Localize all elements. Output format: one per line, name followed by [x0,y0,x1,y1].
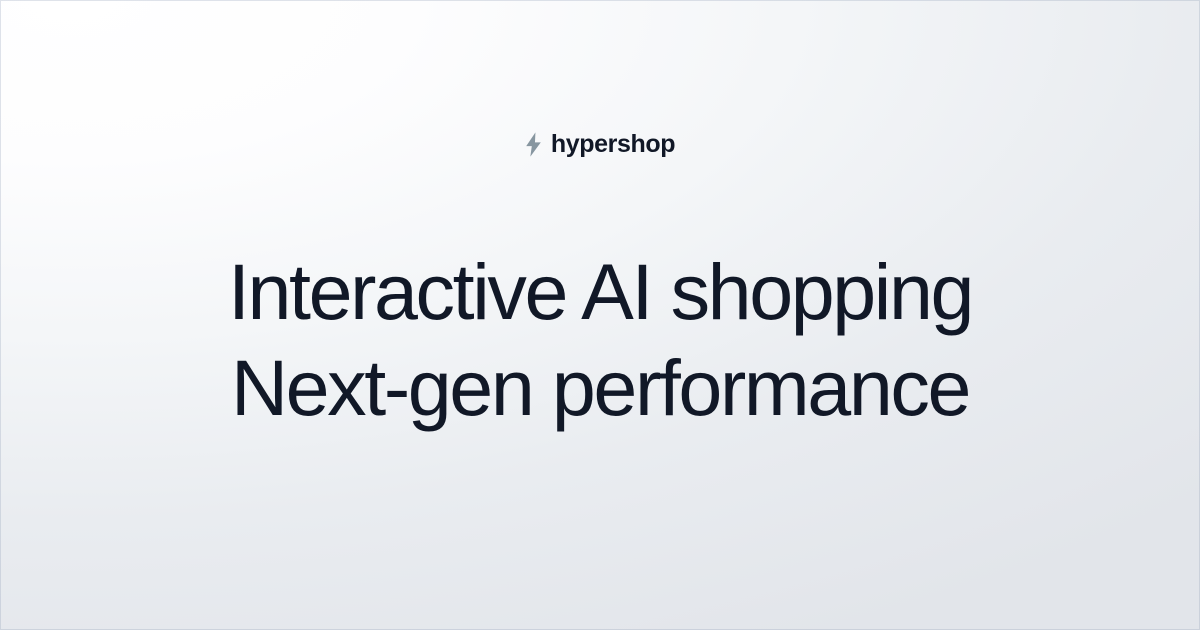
brand-lockup: hypershop [0,126,1200,162]
brand-name: hypershop [551,132,675,157]
lightning-bolt-icon [525,132,542,157]
page-title: Interactive AI shopping Next-gen perform… [60,244,1140,436]
headline-line-2: Next-gen performance [60,340,1140,436]
og-share-card: hypershop Interactive AI shopping Next-g… [0,0,1200,630]
headline-line-1: Interactive AI shopping [60,244,1140,340]
